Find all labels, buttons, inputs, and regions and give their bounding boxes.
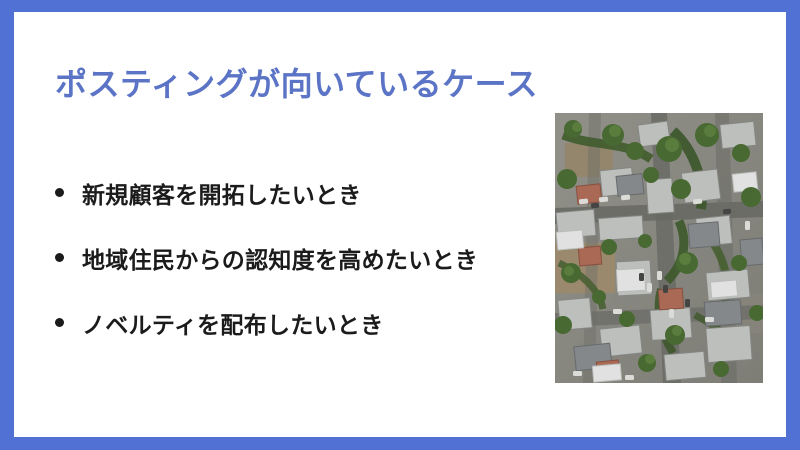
slide-border-top [0,0,800,12]
slide-canvas: ポスティングが向いているケース 新規顧客を開拓したいとき 地域住民からの認知度を… [0,0,800,450]
slide-border-bottom [0,437,800,450]
slide-border-right [786,0,800,450]
bullet-dot-icon [55,188,64,197]
bullet-list: 新規顧客を開拓したいとき 地域住民からの認知度を高めたいとき ノベルティを配布し… [55,160,555,355]
list-item: ノベルティを配布したいとき [55,290,555,355]
list-item-label: ノベルティを配布したいとき [82,306,384,340]
slide-content-area: ポスティングが向いているケース 新規顧客を開拓したいとき 地域住民からの認知度を… [14,12,786,437]
bullet-dot-icon [55,253,64,262]
list-item-label: 新規顧客を開拓したいとき [82,176,362,210]
list-item: 新規顧客を開拓したいとき [55,160,555,225]
list-item: 地域住民からの認知度を高めたいとき [55,225,555,290]
bullet-dot-icon [55,318,64,327]
slide-border-left [0,0,14,450]
list-item-label: 地域住民からの認知度を高めたいとき [82,241,478,275]
slide-title: ポスティングが向いているケース [55,64,538,106]
aerial-neighborhood-photo [555,113,763,383]
